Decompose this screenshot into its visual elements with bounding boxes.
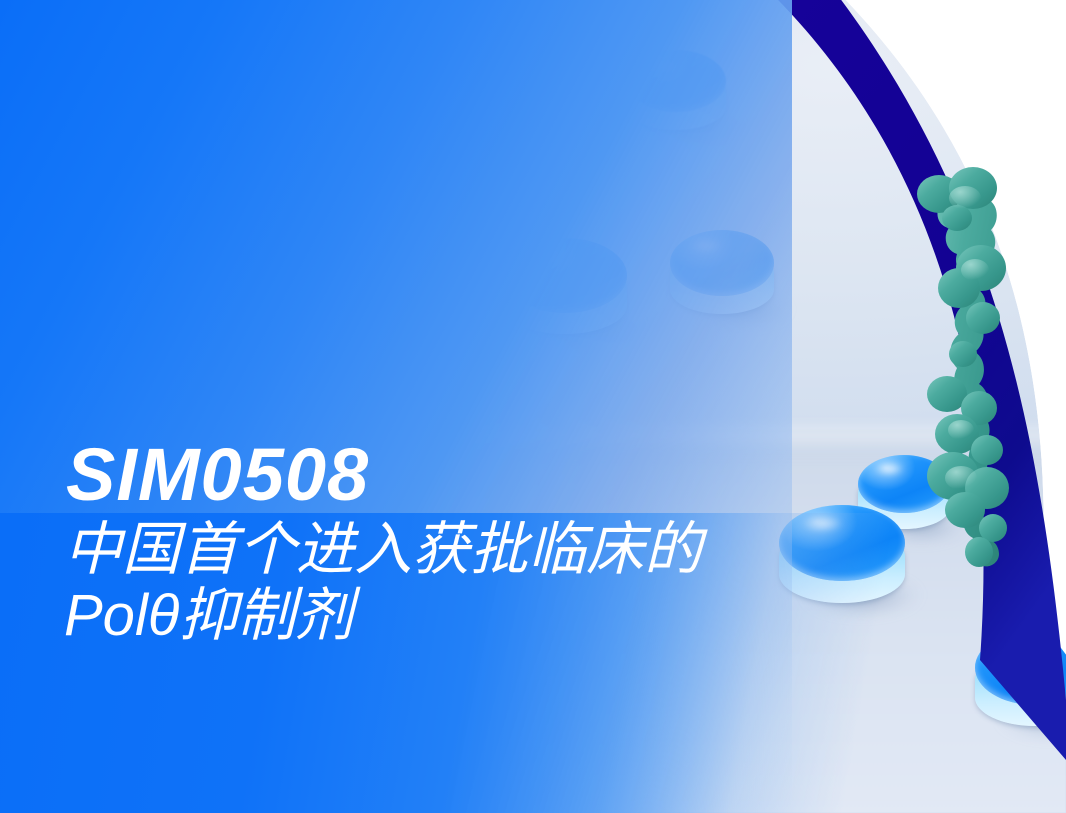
page-title: SIM0508 xyxy=(66,438,702,512)
hero-banner: SIM0508 中国首个进入获批临床的 Polθ抑制剂 xyxy=(0,0,1066,813)
hero-text: SIM0508 中国首个进入获批临床的 Polθ抑制剂 xyxy=(64,438,702,648)
blue-gradient-overlay xyxy=(0,0,792,813)
protein-ribbon xyxy=(895,158,1045,578)
subtitle-line-1: 中国首个进入获批临床的 xyxy=(64,518,702,582)
protein-ribbon-svg xyxy=(895,158,1045,578)
subtitle-line-2: Polθ抑制剂 xyxy=(64,584,702,648)
